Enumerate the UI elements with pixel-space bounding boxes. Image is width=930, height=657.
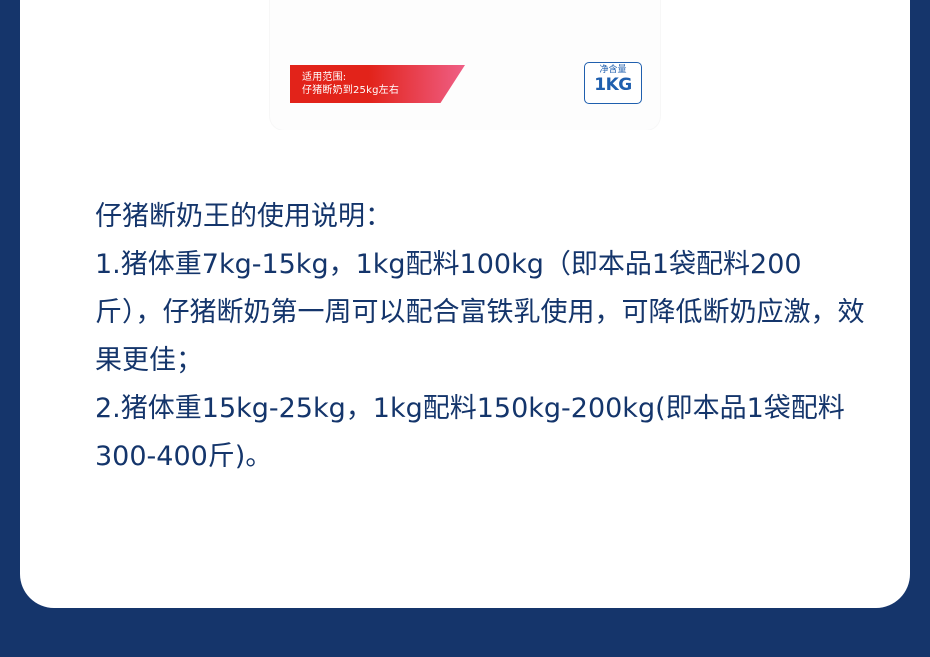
product-bag-image: 适用范围: 仔猪断奶到25kg左右 净含量 1KG (20, 0, 910, 130)
feed-bag-graphic: 适用范围: 仔猪断奶到25kg左右 净含量 1KG (270, 0, 660, 130)
milk-wave-shape (270, 0, 660, 18)
usage-range-ribbon: 适用范围: 仔猪断奶到25kg左右 (290, 65, 465, 103)
ribbon-line-1: 适用范围: (302, 71, 465, 84)
ribbon-line-2: 仔猪断奶到25kg左右 (302, 84, 465, 97)
instruction-item-1: 1.猪体重7kg-15kg，1kg配料100kg（即本品1袋配料200斤），仔猪… (95, 241, 865, 385)
white-content-card: 适用范围: 仔猪断奶到25kg左右 净含量 1KG 仔猪断奶王的使用说明： 1.… (20, 0, 910, 608)
product-detail-page: 适用范围: 仔猪断奶到25kg左右 净含量 1KG 仔猪断奶王的使用说明： 1.… (0, 0, 930, 657)
instruction-item-2: 2.猪体重15kg-25kg，1kg配料150kg-200kg(即本品1袋配料3… (95, 385, 865, 481)
net-weight-badge: 净含量 1KG (584, 62, 642, 104)
instructions-heading: 仔猪断奶王的使用说明： (95, 193, 865, 241)
instructions-block: 仔猪断奶王的使用说明： 1.猪体重7kg-15kg，1kg配料100kg（即本品… (95, 193, 865, 481)
net-weight-value: 1KG (585, 76, 641, 95)
